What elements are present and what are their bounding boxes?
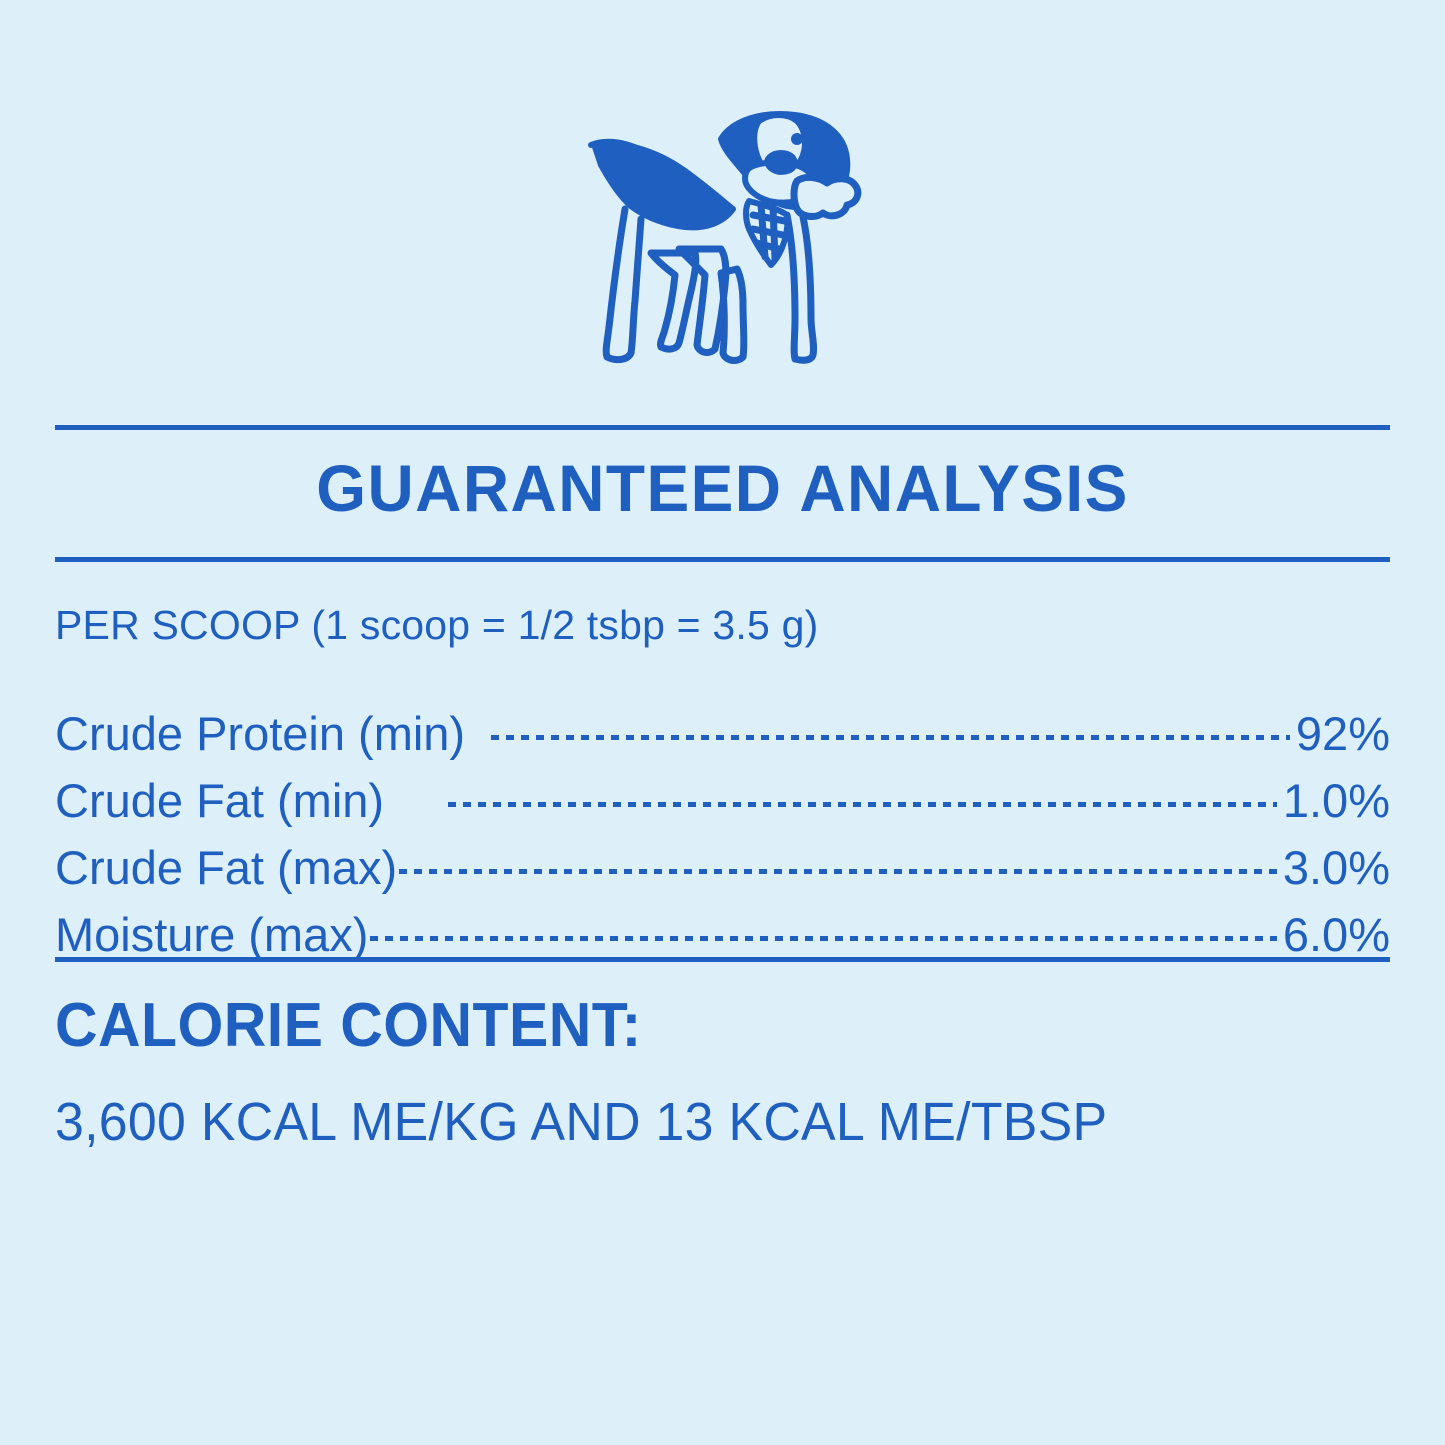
dog-with-bone-icon [573,105,873,395]
calorie-content-value: 3,600 KCAL ME/KG AND 13 KCAL ME/TBSP [55,1095,1107,1149]
nutrient-value: 6.0% [1283,901,1390,968]
serving-note: PER SCOOP (1 scoop = 1/2 tsbp = 3.5 g) [55,605,818,646]
dotted-leader [368,884,1282,951]
dotted-leader [465,683,1296,750]
nutrient-label: Crude Fat (max) [55,834,397,901]
nutrient-label: Moisture (max) [55,901,368,968]
nutrient-value: 3.0% [1283,834,1390,901]
brand-logo [0,100,1445,400]
table-row: Crude Protein (min) 92% [55,683,1390,750]
page-title: GUARANTEED ANALYSIS [75,455,1370,521]
dotted-leader [384,750,1283,817]
divider-middle [55,557,1390,562]
guaranteed-analysis-panel: GUARANTEED ANALYSIS PER SCOOP (1 scoop =… [0,0,1445,1445]
nutrient-value: 1.0% [1283,767,1390,834]
divider-top [55,425,1390,430]
nutrient-label: Crude Fat (min) [55,767,384,834]
nutrient-value: 92% [1296,700,1390,767]
dotted-leader [397,817,1283,884]
calorie-content-heading: CALORIE CONTENT: [55,995,642,1057]
analysis-table: Crude Protein (min) 92% Crude Fat (min) … [55,683,1390,951]
